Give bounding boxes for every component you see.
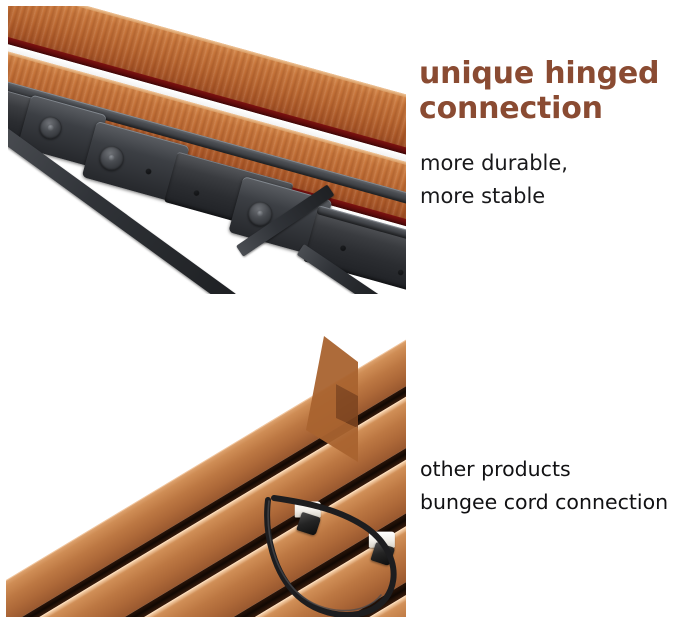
comparison-infographic: unique hinged connection more durable, m…: [0, 0, 679, 617]
hinged-headline: unique hinged connection: [419, 57, 669, 127]
caption-line-1: other products: [420, 453, 676, 486]
subcopy-line-2: more stable: [420, 180, 670, 213]
copper-slat-scene: [6, 322, 406, 617]
bungee-cord-loop: [6, 322, 406, 617]
hinged-subcopy: more durable, more stable: [420, 147, 670, 212]
headline-line-1: unique hinged: [419, 57, 669, 92]
bungee-caption: other products bungee cord connection: [420, 453, 676, 519]
headline-line-2: connection: [419, 92, 669, 127]
wood-table-scene: [8, 6, 406, 294]
hinged-connection-photo: [8, 6, 406, 294]
bungee-cord-connection-photo: [6, 322, 406, 617]
caption-line-2: bungee cord connection: [420, 486, 676, 519]
subcopy-line-1: more durable,: [420, 147, 670, 180]
